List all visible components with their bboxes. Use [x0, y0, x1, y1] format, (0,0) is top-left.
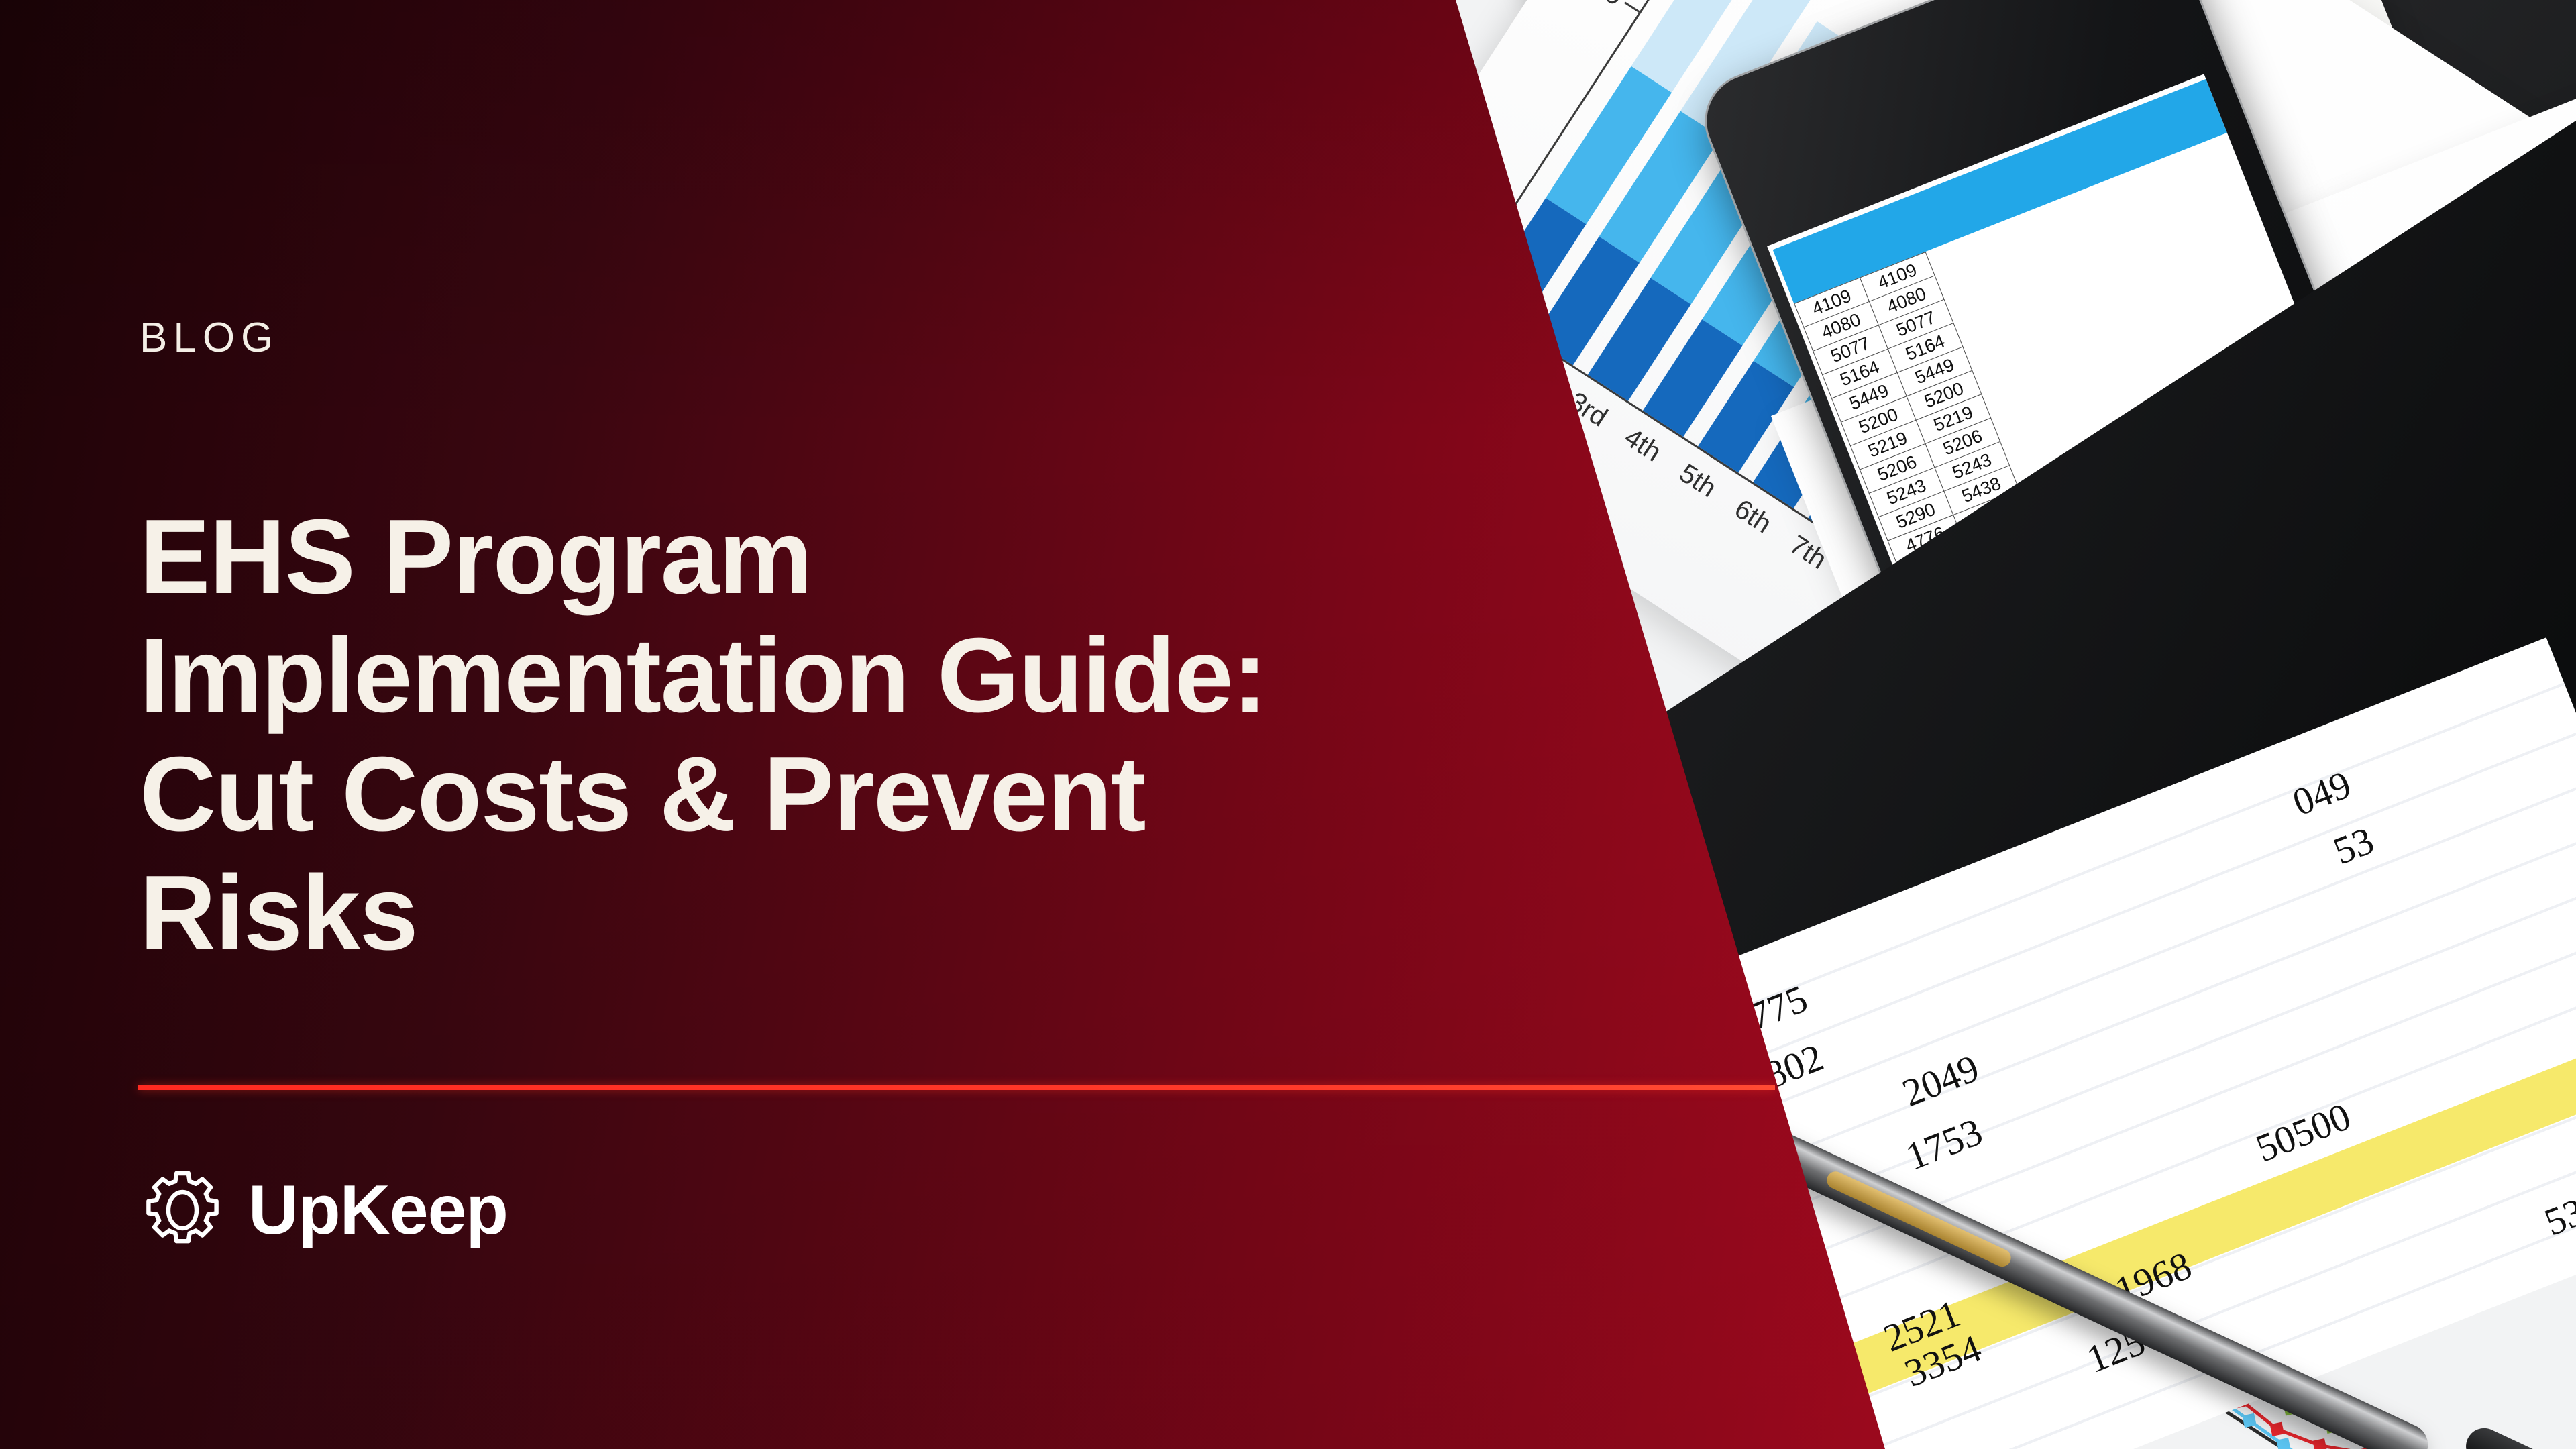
- line-chart-marker: [2312, 1438, 2326, 1449]
- page-title-line-2: Implementation Guide:: [140, 616, 1347, 735]
- phone-table-header-blue: [1773, 79, 2227, 303]
- printed-number: 532: [2538, 1181, 2576, 1244]
- bar-chart-x-label: 4th: [1619, 423, 1666, 468]
- bar-chart-x-label: 6th: [1729, 494, 1776, 539]
- printed-number: 049: [2286, 761, 2357, 824]
- page-title-line-4: Risks: [140, 854, 1347, 973]
- hero-banner: eport Financial Report 37522192319581756…: [0, 0, 2576, 1449]
- line-chart-marker: [2242, 1413, 2256, 1428]
- printed-number: 53: [2327, 818, 2380, 874]
- page-title-line-3: Cut Costs & Prevent: [140, 735, 1347, 854]
- printed-number: 2049: [1896, 1045, 1985, 1116]
- divider-rule: [138, 1085, 1775, 1090]
- upkeep-wordmark: UpKeep: [248, 1175, 508, 1245]
- upkeep-logo[interactable]: UpKeep: [140, 1167, 508, 1253]
- printed-number: 1753: [1900, 1109, 1988, 1179]
- page-title-line-1: EHS Program: [140, 498, 1347, 616]
- bar-chart-y-label: 150: [1572, 0, 1629, 12]
- bar-chart-x-label: 5th: [1674, 458, 1721, 504]
- eyebrow-label: BLOG: [140, 314, 279, 362]
- bar-chart-y-tick: [1624, 1, 1640, 13]
- hero-content: BLOG EHS ProgramImplementation Guide:Cut…: [0, 0, 1456, 1449]
- line-chart-marker: [2270, 1422, 2284, 1436]
- gear-icon: [140, 1167, 225, 1253]
- page-title: EHS ProgramImplementation Guide:Cut Cost…: [140, 498, 1347, 973]
